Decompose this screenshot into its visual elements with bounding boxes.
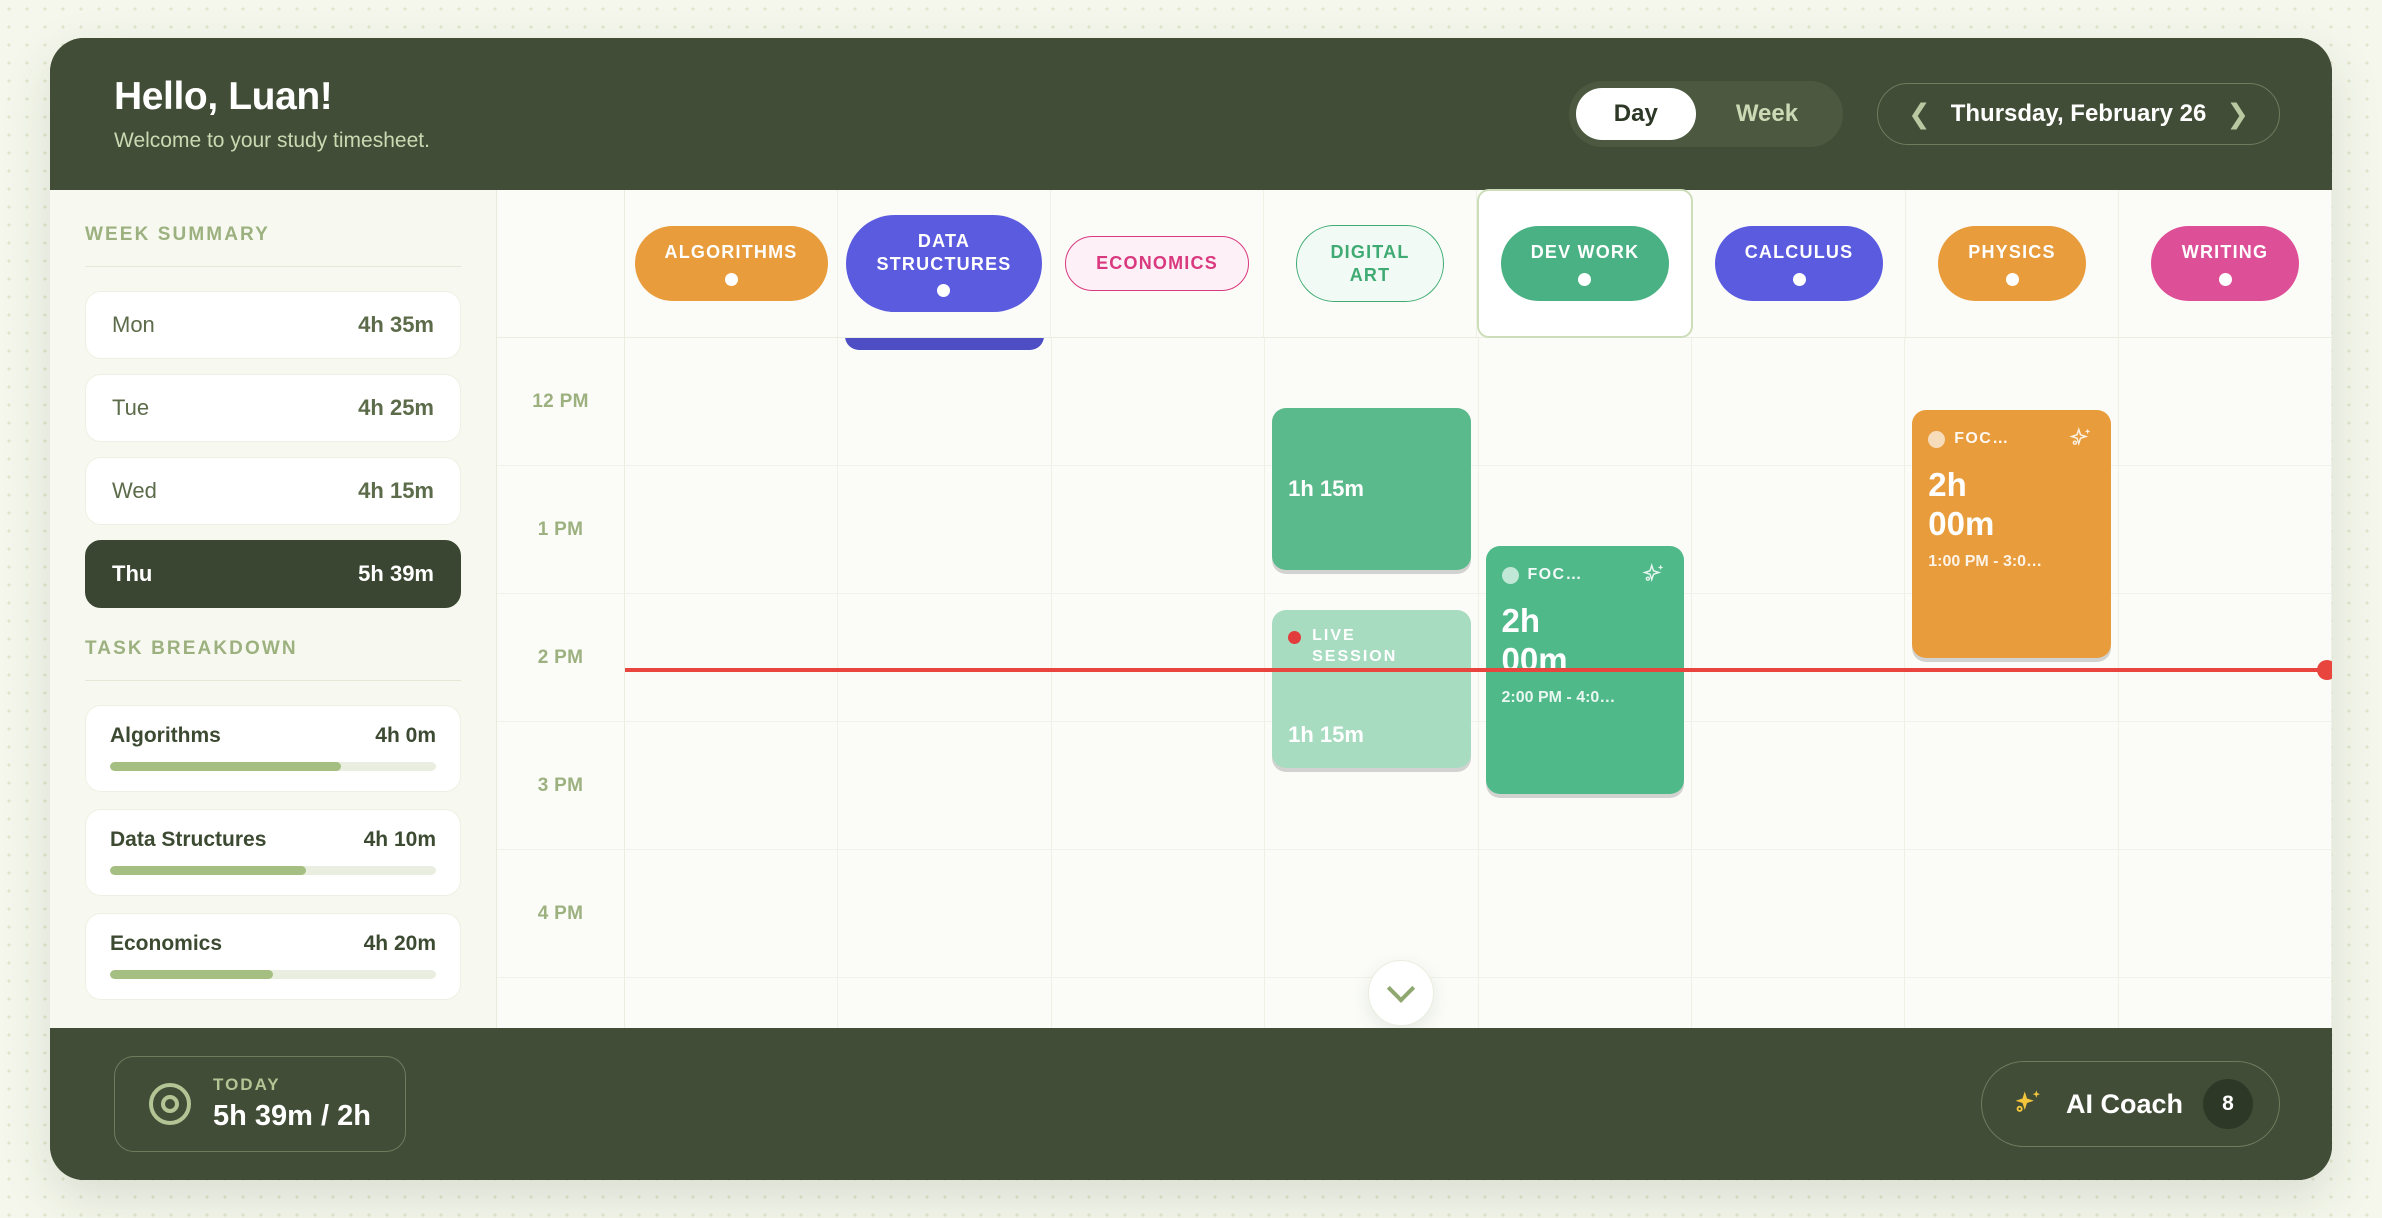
- today-text-block: TODAY 5h 39m / 2h: [213, 1075, 371, 1133]
- event-duration-minutes: 00m: [1502, 641, 1668, 680]
- ai-coach-label: AI Coach: [2066, 1089, 2183, 1120]
- app-footer: TODAY 5h 39m / 2h AI Coach 8: [50, 1028, 2332, 1180]
- calendar-cell[interactable]: [1905, 850, 2117, 978]
- subject-chip-label: CALCULUS: [1745, 241, 1854, 263]
- calendar-column[interactable]: [625, 338, 838, 1028]
- time-gutter: 12 PM1 PM2 PM3 PM4 PM5 PM: [497, 338, 625, 1028]
- ai-coach-button[interactable]: AI Coach 8: [1981, 1061, 2280, 1147]
- calendar-cell[interactable]: [838, 338, 1050, 466]
- week-summary-row[interactable]: Thu5h 39m: [85, 540, 461, 608]
- week-summary-row[interactable]: Mon4h 35m: [85, 291, 461, 359]
- calendar-cell[interactable]: [838, 594, 1050, 722]
- week-summary-row[interactable]: Wed4h 15m: [85, 457, 461, 525]
- sidebar: WEEK SUMMARY Mon4h 35mTue4h 25mWed4h 15m…: [50, 190, 497, 1028]
- calendar-cell[interactable]: [625, 722, 837, 850]
- task-name: Algorithms: [110, 724, 221, 748]
- day-hours: 4h 15m: [358, 478, 434, 504]
- calendar-cell[interactable]: [1905, 978, 2117, 1028]
- subject-status-dot: [2006, 273, 2019, 286]
- event-tag: FOC…: [1954, 430, 2009, 448]
- subject-column-header[interactable]: PHYSICS: [1906, 190, 2119, 337]
- calendar-cell[interactable]: [838, 466, 1050, 594]
- tab-day[interactable]: Day: [1576, 88, 1696, 140]
- week-summary-list: Mon4h 35mTue4h 25mWed4h 15mThu5h 39m: [85, 291, 461, 608]
- time-label: 4 PM: [538, 903, 584, 925]
- subject-column-header[interactable]: DIGITAL ART: [1264, 190, 1477, 337]
- subject-chip-label: ALGORITHMS: [665, 241, 798, 263]
- subject-column-header[interactable]: DEV WORK: [1477, 189, 1693, 338]
- calendar-cell[interactable]: [1479, 850, 1691, 978]
- calendar-column[interactable]: [838, 338, 1051, 1028]
- calendar-cell[interactable]: [838, 850, 1050, 978]
- subject-chip[interactable]: CALCULUS: [1715, 226, 1884, 300]
- calendar-cell[interactable]: [1692, 466, 1904, 594]
- chevron-down-icon: [1386, 975, 1414, 1003]
- scroll-down-button[interactable]: [1368, 960, 1434, 1026]
- view-toggle[interactable]: Day Week: [1569, 81, 1843, 147]
- time-slot: 4 PM: [497, 850, 624, 978]
- time-slot: 2 PM: [497, 594, 624, 722]
- time-slot: 3 PM: [497, 722, 624, 850]
- calendar-column[interactable]: FOC…2h00m2:00 PM - 4:0…: [1479, 338, 1692, 1028]
- today-label: TODAY: [213, 1075, 371, 1095]
- subject-status-dot: [725, 273, 738, 286]
- current-date-label: Thursday, February 26: [1951, 100, 2207, 128]
- task-time: 4h 10m: [364, 828, 436, 852]
- subject-status-dot: [937, 284, 950, 297]
- calendar-cell[interactable]: [1052, 466, 1264, 594]
- calendar-event[interactable]: [845, 338, 1043, 350]
- subject-chip[interactable]: DATA STRUCTURES: [846, 215, 1041, 312]
- subject-status-dot: [2219, 273, 2232, 286]
- day-hours: 5h 39m: [358, 561, 434, 587]
- today-progress-pill[interactable]: TODAY 5h 39m / 2h: [114, 1056, 406, 1152]
- app-window: Hello, Luan! Welcome to your study times…: [50, 38, 2332, 1180]
- event-duration-hours: 2h: [1502, 602, 1668, 641]
- sparkle-icon: [2012, 1087, 2046, 1121]
- calendar-column[interactable]: [2119, 338, 2332, 1028]
- today-value: 5h 39m / 2h: [213, 1100, 371, 1133]
- subject-chip[interactable]: ECONOMICS: [1065, 236, 1249, 290]
- subject-column-header[interactable]: DATA STRUCTURES: [838, 190, 1051, 337]
- calendar-cell[interactable]: [1479, 338, 1691, 466]
- subject-chip-label: WRITING: [2182, 241, 2268, 263]
- calendar-cell[interactable]: [1692, 594, 1904, 722]
- calendar-column[interactable]: [1692, 338, 1905, 1028]
- header-controls: Day Week ❮ Thursday, February 26 ❯: [1569, 81, 2280, 147]
- event-tag: FOC…: [1528, 566, 1583, 584]
- time-slot: 12 PM: [497, 338, 624, 466]
- focus-mode-dot: [1502, 567, 1519, 584]
- ai-coach-badge: 8: [2203, 1079, 2253, 1129]
- prev-day-icon[interactable]: ❮: [1904, 101, 1935, 128]
- task-breakdown-title: TASK BREAKDOWN: [85, 638, 461, 681]
- calendar-cell[interactable]: [625, 594, 837, 722]
- calendar-cell[interactable]: [1052, 978, 1264, 1028]
- calendar-cell[interactable]: [1905, 722, 2117, 850]
- calendar-column[interactable]: [1052, 338, 1265, 1028]
- time-slot: 1 PM: [497, 466, 624, 594]
- time-label: 3 PM: [538, 775, 584, 797]
- task-breakdown-card[interactable]: Data Structures4h 10m: [85, 809, 461, 896]
- greeting-block: Hello, Luan! Welcome to your study times…: [114, 75, 430, 154]
- calendar-cell[interactable]: [1692, 722, 1904, 850]
- calendar-column[interactable]: FOC…2h00m1:00 PM - 3:0…: [1905, 338, 2118, 1028]
- target-ring-icon: [149, 1083, 191, 1125]
- date-navigator[interactable]: ❮ Thursday, February 26 ❯: [1877, 83, 2280, 145]
- subject-chip[interactable]: DEV WORK: [1501, 226, 1670, 300]
- subject-column-header[interactable]: CALCULUS: [1693, 190, 1906, 337]
- task-breakdown-card[interactable]: Economics4h 20m: [85, 913, 461, 1000]
- subject-chip[interactable]: ALGORITHMS: [635, 226, 828, 300]
- subject-chip-label: DIGITAL ART: [1330, 241, 1409, 286]
- focus-mode-dot: [1928, 431, 1945, 448]
- task-name: Data Structures: [110, 828, 266, 852]
- subject-column-header[interactable]: ALGORITHMS: [625, 190, 838, 337]
- event-duration-minutes: 00m: [1928, 505, 2094, 544]
- task-name: Economics: [110, 932, 222, 956]
- calendar-cell[interactable]: [1052, 338, 1264, 466]
- page-title: Hello, Luan!: [114, 75, 430, 120]
- week-summary-title: WEEK SUMMARY: [85, 224, 461, 267]
- calendar-cell[interactable]: [2119, 466, 2331, 594]
- calendar-cell[interactable]: [2119, 338, 2331, 466]
- subject-chip[interactable]: WRITING: [2151, 226, 2299, 300]
- task-progress-bar: [110, 762, 436, 771]
- day-name: Mon: [112, 312, 155, 338]
- day-hours: 4h 35m: [358, 312, 434, 338]
- calendar: ALGORITHMSDATA STRUCTURESECONOMICSDIGITA…: [497, 190, 2332, 1028]
- event-duration: 1h 15m: [1288, 476, 1364, 501]
- subject-chip-label: ECONOMICS: [1096, 252, 1218, 274]
- calendar-cell[interactable]: [1692, 978, 1904, 1028]
- calendar-cell[interactable]: [1052, 722, 1264, 850]
- subject-chip[interactable]: DIGITAL ART: [1296, 225, 1444, 302]
- calendar-cell[interactable]: [838, 722, 1050, 850]
- calendar-grid[interactable]: 1h 15mLIVE SESSION1h 15mFOC…2h00m2:00 PM…: [625, 338, 2332, 1028]
- time-gutter-header: [497, 190, 625, 337]
- task-progress-bar: [110, 866, 436, 875]
- calendar-cell[interactable]: [2119, 594, 2331, 722]
- day-name: Thu: [112, 561, 152, 587]
- task-progress-bar: [110, 970, 436, 979]
- sparkle-icon: [2069, 426, 2095, 452]
- calendar-event[interactable]: 1h 15m: [1272, 408, 1470, 570]
- day-hours: 4h 25m: [358, 395, 434, 421]
- time-label: 1 PM: [538, 519, 584, 541]
- subject-chip-label: DATA STRUCTURES: [876, 230, 1011, 275]
- event-tag: LIVE SESSION: [1312, 626, 1397, 668]
- calendar-cell[interactable]: [2119, 978, 2331, 1028]
- subject-chip-label: DEV WORK: [1531, 241, 1640, 263]
- calendar-cell[interactable]: [2119, 722, 2331, 850]
- next-day-icon[interactable]: ❯: [2222, 101, 2253, 128]
- calendar-cell[interactable]: [1052, 850, 1264, 978]
- calendar-cell[interactable]: [1479, 978, 1691, 1028]
- calendar-cell[interactable]: [1692, 338, 1904, 466]
- calendar-cell[interactable]: [1052, 594, 1264, 722]
- event-duration-hours: 2h: [1928, 466, 2094, 505]
- time-slot: 5 PM: [497, 978, 624, 1028]
- calendar-cell[interactable]: [625, 338, 837, 466]
- tab-week[interactable]: Week: [1698, 88, 1836, 140]
- event-time-range: 2:00 PM - 4:0…: [1502, 689, 1668, 707]
- current-time-indicator: [625, 668, 2332, 672]
- task-breakdown-list: Algorithms4h 0mData Structures4h 10mEcon…: [85, 705, 461, 1000]
- subject-chip-label: PHYSICS: [1968, 241, 2055, 263]
- calendar-column[interactable]: 1h 15mLIVE SESSION1h 15m: [1265, 338, 1478, 1028]
- day-name: Wed: [112, 478, 157, 504]
- app-header: Hello, Luan! Welcome to your study times…: [50, 38, 2332, 190]
- calendar-cell[interactable]: [625, 978, 837, 1028]
- calendar-cell[interactable]: [1265, 850, 1477, 978]
- calendar-cell[interactable]: [625, 466, 837, 594]
- task-time: 4h 20m: [364, 932, 436, 956]
- calendar-cell[interactable]: [838, 978, 1050, 1028]
- app-body: WEEK SUMMARY Mon4h 35mTue4h 25mWed4h 15m…: [50, 190, 2332, 1028]
- live-indicator-dot: [1288, 631, 1301, 644]
- subject-column-header[interactable]: WRITING: [2119, 190, 2332, 337]
- calendar-event[interactable]: FOC…2h00m1:00 PM - 3:0…: [1912, 410, 2110, 658]
- calendar-cell[interactable]: [2119, 850, 2331, 978]
- time-label: 12 PM: [532, 391, 588, 413]
- task-breakdown-card[interactable]: Algorithms4h 0m: [85, 705, 461, 792]
- calendar-event[interactable]: LIVE SESSION1h 15m: [1272, 610, 1470, 768]
- page-subtitle: Welcome to your study timesheet.: [114, 129, 430, 153]
- time-label: 2 PM: [538, 647, 584, 669]
- sparkle-icon: [1642, 562, 1668, 588]
- subject-chip[interactable]: PHYSICS: [1938, 226, 2086, 300]
- subject-column-header[interactable]: ECONOMICS: [1051, 190, 1264, 337]
- calendar-scroll-area[interactable]: 12 PM1 PM2 PM3 PM4 PM5 PM 1h 15mLIVE SES…: [497, 338, 2332, 1028]
- calendar-cell[interactable]: [625, 850, 837, 978]
- event-time-range: 1:00 PM - 3:0…: [1928, 553, 2094, 571]
- task-time: 4h 0m: [375, 724, 436, 748]
- event-duration: 1h 15m: [1288, 722, 1364, 747]
- day-name: Tue: [112, 395, 149, 421]
- calendar-cell[interactable]: [1692, 850, 1904, 978]
- subject-status-dot: [1578, 273, 1591, 286]
- subject-status-dot: [1793, 273, 1806, 286]
- calendar-column-headers: ALGORITHMSDATA STRUCTURESECONOMICSDIGITA…: [497, 190, 2332, 338]
- week-summary-row[interactable]: Tue4h 25m: [85, 374, 461, 442]
